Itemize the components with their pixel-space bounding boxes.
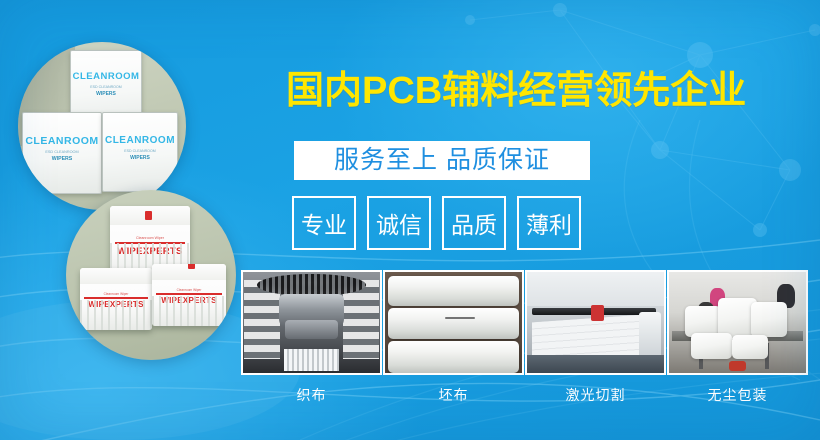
feature-tag-list: 专业 诚信 品质 薄利 (292, 196, 581, 250)
feature-tag-low-margin: 薄利 (517, 196, 581, 250)
thumbnail-caption: 织布 (241, 385, 382, 405)
wipexperts-package: Cleanroom Wiper WIPEXPERTS (80, 268, 152, 330)
thumbnail-frame (383, 270, 524, 375)
banner-headline: 国内PCB辅料经营领先企业 (286, 72, 746, 110)
cleanroom-sub-text: ESD CLEANROOM (71, 85, 141, 89)
feature-tag-quality: 品质 (442, 196, 506, 250)
cleanroom-packing-image (669, 272, 806, 373)
cleanroom-brand-text: CLEANROOM (103, 135, 177, 146)
cleanroom-package: CLEANROOM ESD CLEANROOM WIPERS (102, 112, 178, 192)
laser-cutter-image (527, 272, 664, 373)
knitting-machine-image (243, 272, 380, 373)
cleanroom-sub-text: ESD CLEANROOM (103, 149, 177, 153)
fabric-rolls-image (385, 272, 522, 373)
wipexperts-tiny-text: Cleanroom Wiper (80, 292, 152, 296)
cleanroom-wipers-text: WIPERS (23, 156, 101, 162)
banner-subtitle: 服务至上 品质保证 (334, 148, 550, 173)
cleanroom-wipers-text: WIPERS (71, 91, 141, 97)
feature-tag-professional: 专业 (292, 196, 356, 250)
thumbnail-frame (667, 270, 808, 375)
product-photo-cleanroom-wipes: CLEANROOM ESD CLEANROOM WIPERS CLEANROOM… (18, 42, 186, 210)
wipexperts-tiny-text: Cleanroom Wiper (152, 288, 226, 292)
process-thumbnail-greige-fabric: 坯布 (383, 270, 524, 405)
wipexperts-tiny-text: Cleanroom Wiper (110, 236, 190, 240)
thumbnail-caption: 激光切割 (525, 385, 666, 405)
process-thumbnail-weaving: 织布 (241, 270, 382, 405)
cleanroom-wipers-text: WIPERS (103, 155, 177, 161)
wipexperts-package: Cleanroom Wiper WIPEXPERTS (152, 264, 226, 326)
thumbnail-frame (525, 270, 666, 375)
cleanroom-brand-text: CLEANROOM (23, 135, 101, 147)
promo-banner: CLEANROOM ESD CLEANROOM WIPERS CLEANROOM… (0, 0, 820, 440)
process-thumbnail-cleanroom-packing: 无尘包装 (667, 270, 808, 405)
thumbnail-caption: 坯布 (383, 385, 524, 405)
subtitle-box: 服务至上 品质保证 (294, 141, 590, 180)
process-thumbnail-list: 织布 坯布 (241, 270, 808, 405)
product-photo-wipexperts: Cleanroom Wiper WIPEXPERTS Cleanroom Wip… (66, 190, 236, 360)
thumbnail-caption: 无尘包装 (667, 385, 808, 405)
thumbnail-frame (241, 270, 382, 375)
feature-tag-integrity: 诚信 (367, 196, 431, 250)
cleanroom-sub-text: ESD CLEANROOM (23, 150, 101, 154)
cleanroom-package: CLEANROOM ESD CLEANROOM WIPERS (22, 112, 102, 194)
process-thumbnail-laser-cutting: 激光切割 (525, 270, 666, 405)
cleanroom-brand-text: CLEANROOM (71, 71, 141, 82)
